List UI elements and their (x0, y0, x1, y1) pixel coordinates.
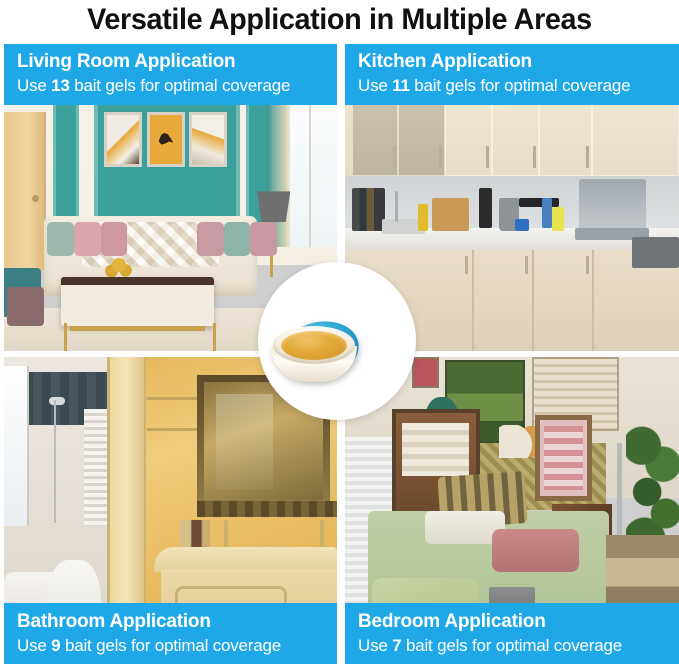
bait-gel-count: 11 (392, 76, 410, 95)
banner-title: Living Room Application (17, 49, 337, 74)
bait-gel-jar (271, 320, 357, 382)
sub-suffix: bait gels for optimal coverage (65, 636, 281, 655)
product-badge (258, 262, 416, 420)
door (4, 112, 46, 272)
blue-container (515, 219, 528, 231)
cushion (101, 222, 128, 256)
stovetop (632, 237, 679, 268)
horse-motif (159, 132, 174, 148)
bait-gel-count: 9 (51, 636, 60, 655)
banner-bathroom: Bathroom Application Use 9 bait gels for… (4, 603, 337, 664)
banner-subtitle: Use 11 bait gels for optimal coverage (358, 74, 679, 97)
coffee-table (61, 277, 214, 326)
banner-living-room: Living Room Application Use 13 bait gels… (4, 44, 337, 105)
cushion (197, 222, 224, 256)
panel-bedroom[interactable]: Bedroom Application Use 7 bait gels for … (345, 357, 679, 664)
coffee-table-legs (64, 323, 217, 351)
sub-suffix: bait gels for optimal coverage (414, 76, 630, 95)
knife-block (479, 188, 492, 228)
dish-rack (579, 179, 646, 234)
cushion (250, 222, 277, 256)
teal-wall-panel-left (51, 96, 82, 232)
utensil-rail (519, 198, 559, 207)
bait-gel-count: 13 (51, 76, 70, 95)
banner-subtitle: Use 9 bait gels for optimal coverage (17, 634, 337, 657)
toiletry-bottles (180, 520, 210, 551)
sub-prefix: Use (17, 636, 47, 655)
sub-prefix: Use (358, 76, 388, 95)
bait-gel-count: 7 (392, 636, 401, 655)
lower-cabinet-door (532, 250, 594, 351)
vanity-backsplash (197, 501, 337, 516)
yellow-can (552, 207, 564, 232)
floor-lamp-shade (257, 191, 290, 222)
spray-bottle (542, 198, 552, 229)
ottoman-secondary (7, 287, 44, 327)
banner-title: Bedroom Application (358, 609, 679, 634)
cushion (224, 222, 251, 256)
sub-prefix: Use (17, 76, 47, 95)
sub-prefix: Use (358, 636, 388, 655)
framed-poster (535, 415, 592, 501)
towel-bar (147, 397, 200, 431)
sub-suffix: bait gels for optimal coverage (74, 76, 290, 95)
framed-artwork-center (147, 112, 185, 167)
cushion (47, 222, 74, 256)
shower-hose (54, 400, 56, 523)
window (4, 366, 29, 526)
framed-artwork-left (104, 112, 142, 167)
banner-title: Kitchen Application (358, 49, 679, 74)
sub-suffix: bait gels for optimal coverage (406, 636, 622, 655)
banner-subtitle: Use 13 bait gels for optimal coverage (17, 74, 337, 97)
banner-bedroom: Bedroom Application Use 7 bait gels for … (345, 603, 679, 664)
banner-kitchen: Kitchen Application Use 11 bait gels for… (345, 44, 679, 105)
framed-artwork-right (189, 112, 227, 167)
banner-subtitle: Use 7 bait gels for optimal coverage (358, 634, 679, 657)
amber-gel (281, 331, 347, 360)
faucet (320, 520, 324, 551)
counter-clutter (352, 188, 385, 231)
pink-pillow (492, 529, 579, 572)
faucet (395, 191, 398, 222)
cutting-board (432, 198, 469, 232)
cushion (74, 222, 101, 256)
page-title: Versatile Application in Multiple Areas (14, 0, 666, 44)
faucet (224, 520, 228, 551)
shower-head (49, 397, 65, 405)
poster-small (412, 357, 439, 388)
lower-cabinet-door (412, 250, 474, 351)
lower-cabinet-door (472, 250, 534, 351)
panel-bathroom[interactable]: Bathroom Application Use 9 bait gels for… (4, 357, 337, 664)
banner-title: Bathroom Application (17, 609, 337, 634)
oil-bottle (418, 204, 428, 232)
